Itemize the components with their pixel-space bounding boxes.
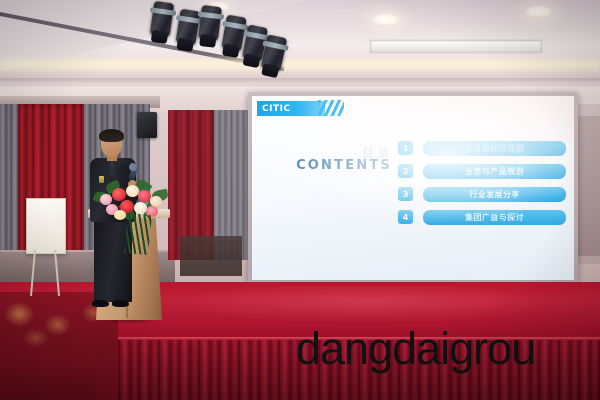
microphone-head-icon — [129, 163, 137, 171]
speaker-shoe — [92, 300, 109, 307]
agenda-row: 4 集团广益与探讨 — [398, 209, 566, 225]
agenda-row-bar: 总体目标与规划 — [423, 141, 566, 156]
ceiling-bar-light — [370, 40, 542, 53]
speaker-shoe — [112, 300, 129, 307]
slide-heading-cn: 目录 — [282, 144, 392, 161]
flower-icon — [134, 202, 147, 214]
agenda-row-number: 2 — [398, 164, 413, 178]
slide-logo-text: CITIC — [262, 104, 291, 114]
agenda-row-number: 3 — [398, 187, 413, 201]
agenda-row-number: 4 — [398, 210, 413, 224]
agenda-row-bar: 业务与产品规划 — [423, 164, 566, 179]
agenda-row-bar: 集团广益与探讨 — [423, 210, 566, 225]
flipchart-easel-legs — [30, 250, 62, 296]
loudspeaker-icon — [137, 112, 157, 138]
agenda-row: 3 行业发展分享 — [398, 186, 566, 202]
agenda-row-number: 1 — [398, 141, 413, 155]
agenda-row-label: 业务与产品规划 — [465, 166, 524, 177]
stage-furniture — [180, 236, 242, 276]
stage-highlight — [150, 286, 580, 326]
slide-logo-banner: CITIC — [257, 101, 325, 116]
floor-carpet-lower — [0, 356, 96, 400]
agenda-row-label: 行业发展分享 — [469, 189, 519, 200]
ceiling-cove-light — [0, 56, 600, 72]
conference-photo: CITIC 目录 CONTENTS 1 总体目标与规划 2 业务与产品规划 3 — [0, 0, 600, 400]
floral-arrangement — [92, 176, 172, 222]
agenda-row: 1 总体目标与规划 — [398, 140, 566, 156]
ceiling-cove-edge — [0, 78, 600, 85]
agenda-row-label: 总体目标与规划 — [465, 143, 524, 154]
slide-agenda-list: 1 总体目标与规划 2 业务与产品规划 3 行业发展分享 4 — [398, 140, 566, 232]
logo-swoosh-icon — [318, 100, 344, 116]
projection-screen: CITIC 目录 CONTENTS 1 总体目标与规划 2 业务与产品规划 3 — [252, 96, 574, 280]
flower-icon — [114, 210, 126, 220]
slide-heading: 目录 CONTENTS — [282, 144, 392, 173]
flower-icon — [112, 188, 126, 201]
foliage-frond — [124, 213, 152, 255]
flipchart-board — [26, 198, 66, 254]
downlight-icon — [371, 14, 401, 26]
agenda-row: 2 业务与产品规划 — [398, 163, 566, 179]
agenda-row-bar: 行业发展分享 — [423, 187, 566, 202]
downlight-icon — [524, 6, 554, 18]
watermark-text: dangdaigrou — [296, 326, 535, 371]
agenda-row-label: 集团广益与探讨 — [465, 212, 524, 223]
speaker-hair — [99, 129, 124, 142]
stage-light-icon — [198, 5, 222, 41]
